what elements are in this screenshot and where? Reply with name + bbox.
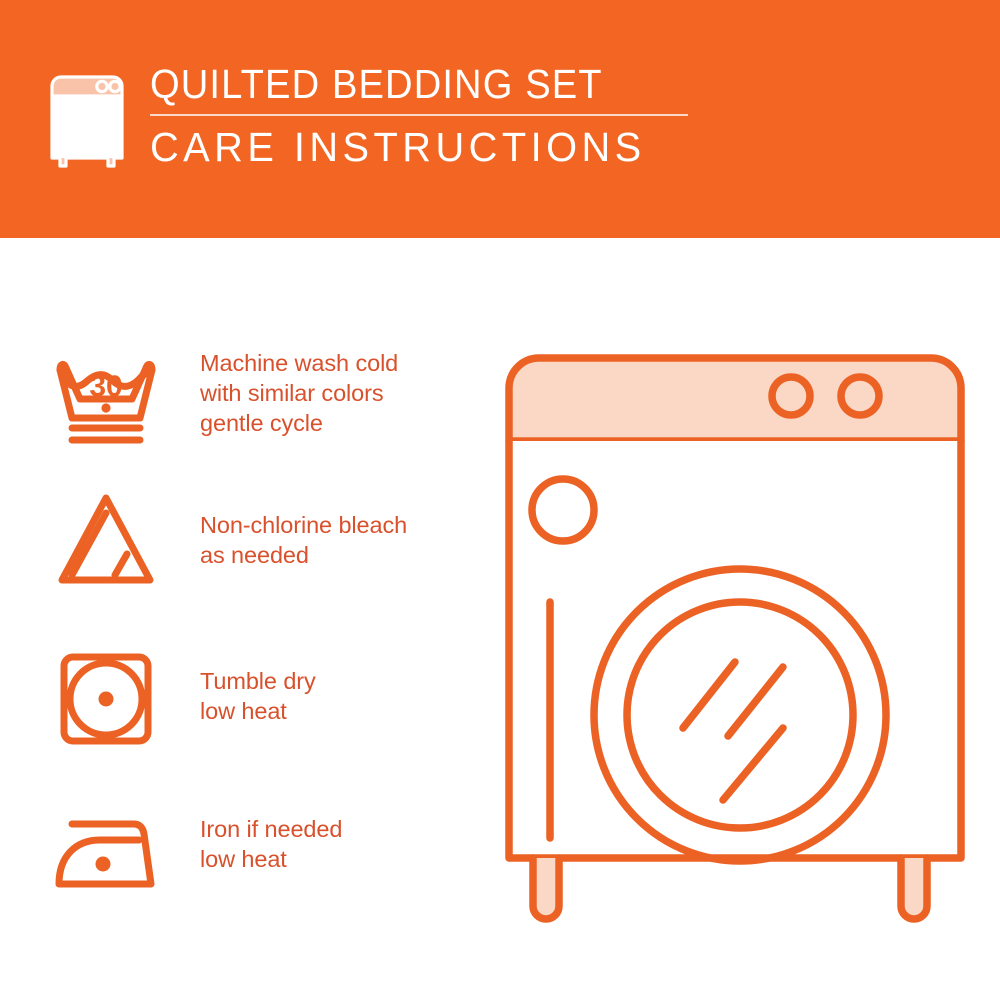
care-row: Non-chlorine bleach as needed [50, 486, 480, 596]
page-title: QUILTED BEDDING SET [150, 62, 650, 106]
care-label: Non-chlorine bleach as needed [200, 486, 407, 570]
iron-dot-icon [96, 857, 111, 872]
non-chlorine-bleach-triangle-icon [50, 486, 162, 596]
leg-right [901, 858, 927, 919]
header-content: QUILTED BEDDING SET CARE INSTRUCTIONS [44, 62, 688, 172]
care-instructions-page: QUILTED BEDDING SET CARE INSTRUCTIONS 30 [0, 0, 1000, 1000]
tumble-dry-icon [50, 644, 162, 754]
care-instruction-list: 30 Machine wash cold with similar colors… [0, 238, 480, 1000]
header-titles: QUILTED BEDDING SET CARE INSTRUCTIONS [150, 62, 688, 169]
machine-wash-tub-icon: 30 [50, 342, 162, 452]
care-label: Machine wash cold with similar colors ge… [200, 342, 398, 438]
page-subtitle: CARE INSTRUCTIONS [150, 125, 672, 169]
tumble-dry-dot-icon [99, 692, 114, 707]
washing-machine-icon [44, 64, 130, 172]
leg-left [533, 858, 559, 919]
wash-dot-icon [101, 403, 110, 412]
iron-icon [50, 800, 162, 910]
care-row: Iron if needed low heat [50, 800, 480, 910]
care-row: Tumble dry low heat [50, 644, 480, 754]
care-label: Tumble dry low heat [200, 644, 316, 726]
title-divider [150, 114, 688, 116]
front-load-washing-machine-illustration [495, 330, 975, 940]
page-header: QUILTED BEDDING SET CARE INSTRUCTIONS [0, 0, 1000, 238]
wash-temperature-value: 30 [89, 370, 122, 403]
care-row: 30 Machine wash cold with similar colors… [50, 342, 480, 452]
control-panel [509, 358, 961, 441]
care-label: Iron if needed low heat [200, 800, 342, 874]
machine-body [509, 441, 961, 858]
